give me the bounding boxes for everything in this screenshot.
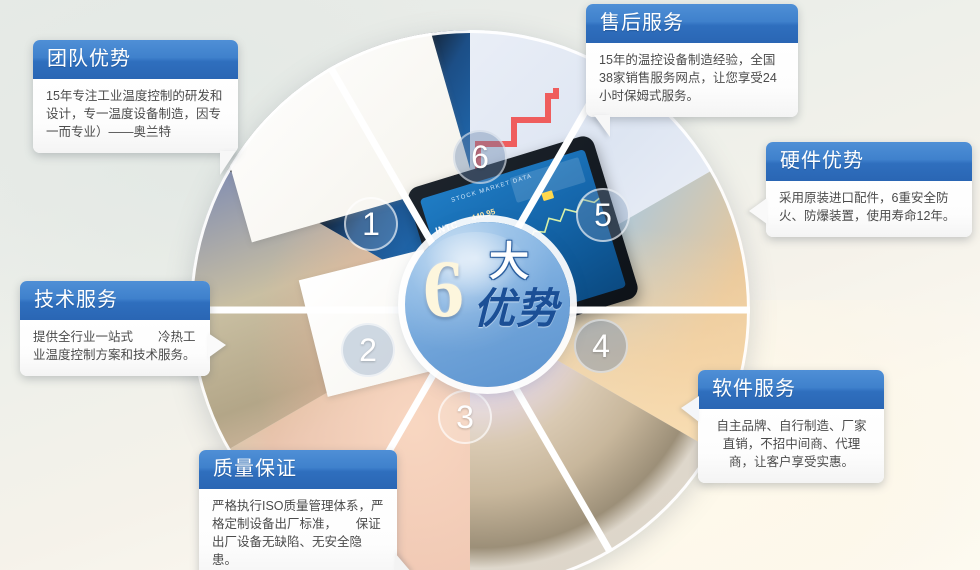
callout-tail	[681, 396, 699, 422]
card-title-software: 软件服务	[698, 370, 884, 409]
callout-tail	[749, 198, 767, 224]
callout-card-software[interactable]: 软件服务 自主品牌、自行制造、厂家直销，不招中间商、代理商，让客户享受实惠。	[698, 370, 884, 483]
segment-number-5[interactable]: 5	[576, 188, 630, 242]
callout-card-hardware[interactable]: 硬件优势 采用原装进口配件，6重安全防火、防爆装置，使用寿命12年。	[766, 142, 972, 237]
infographic-stage: STOCK MARKET DATA INTC 440.95 1 2 3 4 5 …	[0, 0, 980, 570]
card-title-quality: 质量保证	[199, 450, 397, 489]
hub-text-advantages: 优势	[473, 288, 559, 332]
callout-card-quality[interactable]: 质量保证 严格执行ISO质量管理体系，严格定制设备出厂标准， 保证出厂设备无缺陷…	[199, 450, 397, 570]
card-body-after-sales: 15年的温控设备制造经验，全国38家销售服务网点，让您享受24小时保姆式服务。	[586, 43, 798, 117]
segment-number-4[interactable]: 4	[574, 319, 628, 373]
card-title-hardware: 硬件优势	[766, 142, 972, 181]
callout-card-after-sales[interactable]: 售后服务 15年的温控设备制造经验，全国38家销售服务网点，让您享受24小时保姆…	[586, 4, 798, 117]
card-title-technical: 技术服务	[20, 281, 210, 320]
callout-tail	[395, 553, 412, 570]
segment-number-2[interactable]: 2	[341, 323, 395, 377]
card-body-technical: 提供全行业一站式 冷热工业温度控制方案和技术服务。	[20, 320, 210, 376]
callout-tail	[208, 333, 226, 358]
callout-card-team[interactable]: 团队优势 15年专注工业温度控制的研发和设计，专一温度设备制造，因专一而专业）—…	[33, 40, 238, 153]
card-title-team: 团队优势	[33, 40, 238, 79]
card-body-team: 15年专注工业温度控制的研发和设计，专一温度设备制造，因专一而专业）——奥兰特	[33, 79, 238, 153]
card-body-hardware: 采用原装进口配件，6重安全防火、防爆装置，使用寿命12年。	[766, 181, 972, 237]
hub-number-six: 6	[423, 248, 464, 330]
card-body-quality: 严格执行ISO质量管理体系，严格定制设备出厂标准， 保证出厂设备无缺陷、无安全隐…	[199, 489, 397, 570]
center-hub[interactable]: 6 大 优势	[405, 222, 570, 387]
callout-card-technical[interactable]: 技术服务 提供全行业一站式 冷热工业温度控制方案和技术服务。	[20, 281, 210, 376]
card-title-after-sales: 售后服务	[586, 4, 798, 43]
callout-tail	[220, 151, 236, 175]
segment-number-6[interactable]: 6	[453, 130, 507, 184]
segment-number-1[interactable]: 1	[344, 197, 398, 251]
hub-char-da: 大	[489, 242, 529, 282]
callout-tail	[594, 115, 610, 137]
card-body-software: 自主品牌、自行制造、厂家直销，不招中间商、代理商，让客户享受实惠。	[698, 409, 884, 483]
segment-number-3[interactable]: 3	[438, 390, 492, 444]
